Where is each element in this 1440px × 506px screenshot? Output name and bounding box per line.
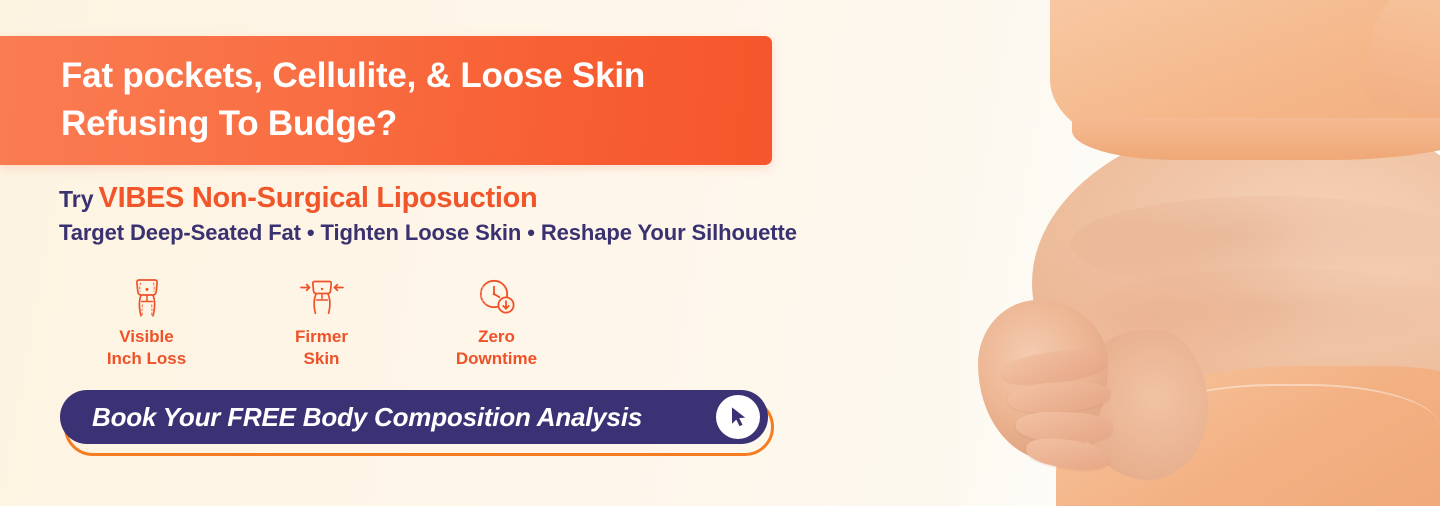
cta-label: Book Your FREE Body Composition Analysis xyxy=(92,402,642,433)
feature-list: Visible Inch Loss Firmer Skin xyxy=(59,276,584,370)
body-contour-icon xyxy=(127,276,167,320)
bra-band xyxy=(1072,118,1440,160)
feature-label: Visible Inch Loss xyxy=(107,326,186,370)
feature-label: Firmer Skin xyxy=(295,326,348,370)
benefits-line: Target Deep-Seated Fat • Tighten Loose S… xyxy=(59,220,797,246)
book-analysis-button[interactable]: Book Your FREE Body Composition Analysis xyxy=(60,390,768,444)
hero-photo xyxy=(960,0,1440,506)
feature-item-visible-inch-loss: Visible Inch Loss xyxy=(59,276,234,370)
clock-downtime-icon xyxy=(474,276,520,320)
feature-label: Zero Downtime xyxy=(456,326,537,370)
headline-text: Fat pockets, Cellulite, & Loose Skin Ref… xyxy=(61,52,761,148)
promo-banner: Fat pockets, Cellulite, & Loose Skin Ref… xyxy=(0,0,1440,506)
subheadline-line: TryVIBES Non-Surgical Liposuction xyxy=(59,182,537,215)
cta-container: Book Your FREE Body Composition Analysis xyxy=(60,390,772,452)
subheadline-prefix: Try xyxy=(59,186,94,212)
feature-item-firmer-skin: Firmer Skin xyxy=(234,276,409,370)
waist-tightening-icon xyxy=(295,276,349,320)
cursor-pointer-icon[interactable] xyxy=(716,395,760,439)
feature-item-zero-downtime: Zero Downtime xyxy=(409,276,584,370)
subheadline-brand: VIBES Non-Surgical Liposuction xyxy=(99,182,538,214)
